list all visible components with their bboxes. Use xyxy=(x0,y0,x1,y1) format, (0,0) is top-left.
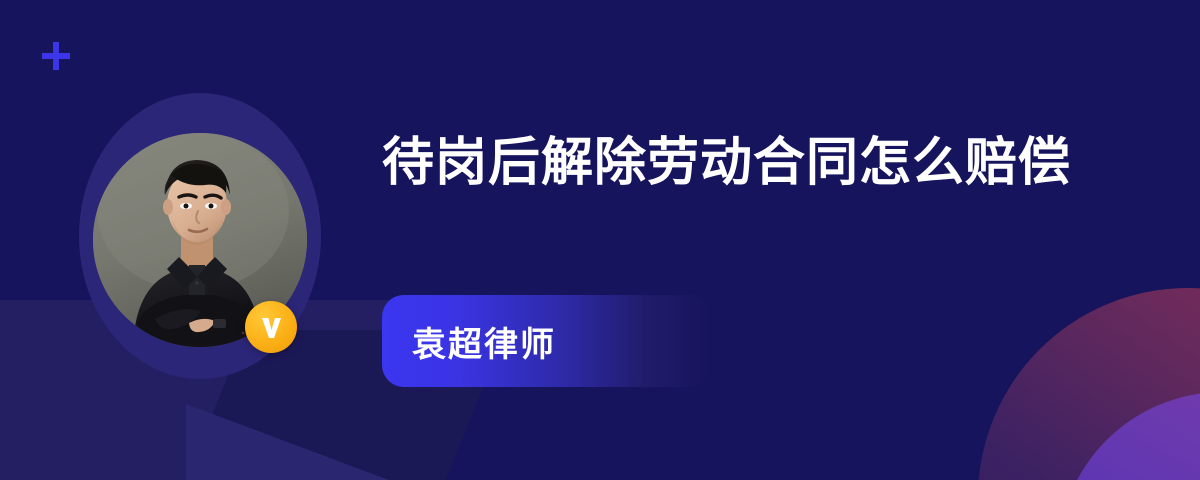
page-title: 待岗后解除劳动合同怎么赔偿 xyxy=(382,122,1072,204)
lawyer-article-banner: 待岗后解除劳动合同怎么赔偿 袁超律师 xyxy=(0,0,1200,480)
banner-content: 待岗后解除劳动合同怎么赔偿 袁超律师 xyxy=(382,122,1142,204)
plus-icon xyxy=(40,40,72,72)
lawyer-name-button[interactable]: 袁超律师 xyxy=(382,295,712,387)
verified-badge-icon xyxy=(245,301,297,353)
avatar xyxy=(93,133,307,347)
decorative-triangle xyxy=(186,404,506,480)
